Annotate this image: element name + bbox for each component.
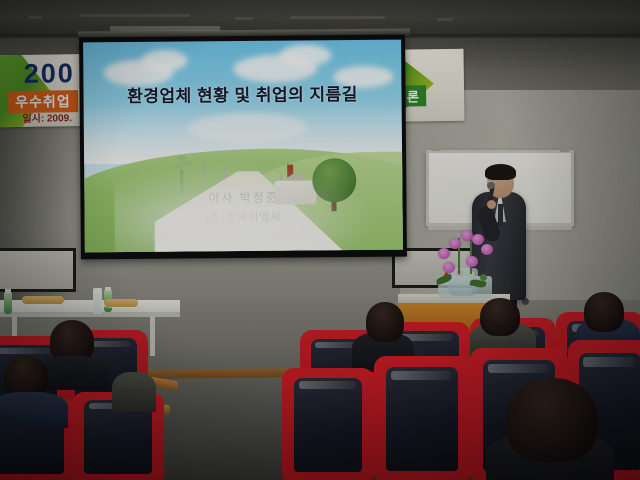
projection-screen-frame: 환경업체 현황 및 취업의 지름길 이사 박정준 (주)한국이엠씨 [79, 35, 407, 260]
snack-food [22, 296, 64, 304]
banner-date: 일시: 2009. [22, 109, 72, 125]
seat [282, 368, 374, 480]
attendee-head [584, 292, 624, 332]
banner-year: 200 [24, 58, 75, 90]
orchid-bloom [472, 234, 484, 245]
lecture-hall-photo: 200 수회 우수취업 강전략토론 일시: 2009. 학교 환경공학과 [0, 0, 640, 480]
presenter-tie [498, 204, 503, 226]
presenter-hand [487, 200, 496, 209]
presenter-hair [485, 164, 516, 180]
orchid-bloom [449, 238, 461, 249]
attendee-shoulders [112, 372, 156, 412]
orchid-bloom [481, 244, 493, 255]
attendee-shoulders [38, 356, 108, 390]
side-table-leg [150, 316, 155, 356]
whiteboard-clip-left-icon [432, 147, 441, 151]
water-bottle [93, 288, 102, 314]
projected-slide: 환경업체 현황 및 취업의 지름길 이사 박정준 (주)한국이엠씨 [83, 40, 403, 253]
attendee-head-foreground [506, 378, 598, 462]
seat [374, 356, 470, 480]
wall-panel-left [0, 248, 76, 292]
bottle-cap-icon [105, 287, 111, 291]
screen-mount-bracket [110, 26, 220, 31]
bottle-cap-icon [5, 289, 11, 293]
orchid-bloom [466, 256, 478, 267]
attendee-head [366, 302, 404, 342]
projector-glare [114, 160, 375, 253]
attendee-head [480, 298, 520, 336]
slide-title: 환경업체 현황 및 취업의 지름길 [83, 80, 401, 108]
microphone-head-icon [487, 182, 495, 189]
orchid-bloom [443, 262, 455, 273]
whiteboard-clip-right-icon [560, 148, 569, 152]
green-bottle [4, 292, 12, 314]
orchid-bloom [438, 248, 450, 259]
attendee-shoulders [0, 392, 68, 428]
snack-food [104, 299, 138, 307]
